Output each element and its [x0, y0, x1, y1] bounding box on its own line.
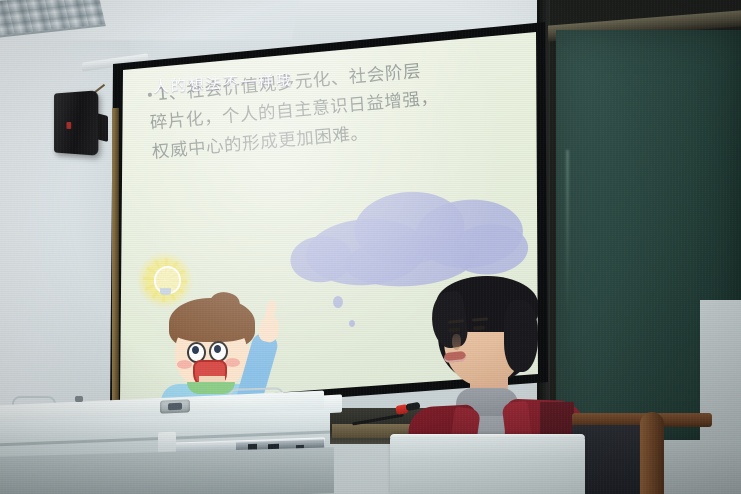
slide-bullet-icon	[148, 92, 152, 96]
ceiling-light-icon	[0, 0, 106, 38]
wall-speaker	[48, 86, 110, 160]
boy-blush-left	[177, 360, 192, 369]
presenter-nose	[452, 334, 461, 350]
boy-blush-right	[225, 358, 240, 367]
thought-bubble-dot-large	[333, 296, 343, 308]
presenter-hair-side	[504, 300, 538, 372]
podium-latch-icon	[160, 399, 190, 413]
podium-knob	[75, 396, 83, 402]
chair-arm-post	[640, 412, 664, 494]
ceiling	[0, 0, 300, 40]
presenter-eye-right	[473, 326, 485, 331]
front-desk-panel	[390, 434, 585, 494]
podium-front-panel	[0, 447, 334, 494]
boy-pupil-right	[214, 345, 221, 353]
speaker-led-icon	[67, 122, 72, 129]
thought-bubble-cloud	[286, 182, 532, 291]
lightbulb-base	[160, 288, 171, 295]
boy-collar	[187, 382, 235, 394]
speaker-cabinet	[54, 90, 98, 155]
screen-wood-trim	[112, 108, 119, 404]
floor-area	[664, 440, 741, 494]
thought-bubble-dot-small	[349, 320, 355, 327]
lecture-hall-photo: 1、社会价值观多元化、社会阶层 碎片化，个人的自主意识日益增强， 权威中心的形成…	[0, 0, 741, 494]
front-desk-edge	[390, 434, 585, 438]
boy-pupil-left	[192, 346, 199, 354]
boy-fringe	[171, 312, 253, 342]
